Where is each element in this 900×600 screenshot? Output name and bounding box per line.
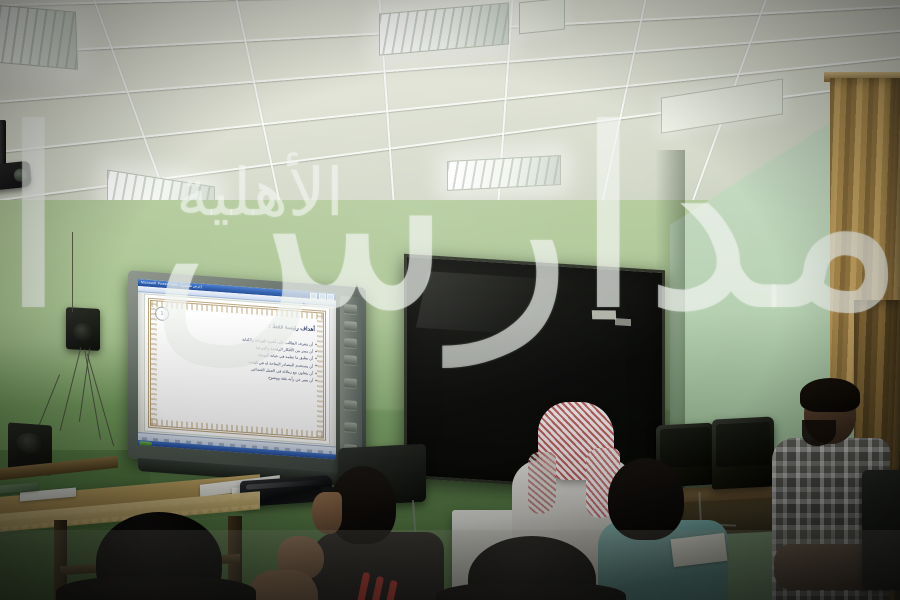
whiteboard-rail-button[interactable] bbox=[344, 304, 357, 314]
ceiling-projector bbox=[0, 128, 35, 190]
head bbox=[608, 458, 684, 540]
whiteboard-rail-button[interactable] bbox=[344, 355, 357, 365]
blackboard-glare bbox=[416, 271, 607, 338]
presentation-slide: 1 أهداف رئيسة فقط : أن يتعرف الطالب على … bbox=[144, 293, 330, 445]
classroom-photo: Microsoft PowerPoint - [عرض تقديمي] 1 أه… bbox=[0, 0, 900, 600]
fluorescent-panel-back bbox=[519, 0, 565, 34]
whiteboard-rail-button[interactable] bbox=[344, 422, 357, 432]
floor bbox=[0, 530, 900, 600]
whiteboard-rail-button[interactable] bbox=[344, 321, 357, 331]
whiteboard-rail-button[interactable] bbox=[344, 400, 357, 410]
projector-lens-icon bbox=[13, 168, 27, 182]
fluorescent-panel-right bbox=[447, 155, 561, 191]
whiteboard-button-rail[interactable] bbox=[340, 296, 362, 460]
blackboard-reflection bbox=[615, 318, 631, 326]
hair bbox=[800, 378, 860, 412]
slide-page-number: 1 bbox=[155, 306, 169, 321]
blackboard-reflection bbox=[592, 311, 616, 320]
ceiling-drop-cable bbox=[72, 232, 73, 312]
ghutra-tail-left bbox=[528, 452, 556, 514]
crt-monitor-right bbox=[712, 416, 774, 489]
interactive-whiteboard[interactable]: Microsoft PowerPoint - [عرض تقديمي] 1 أه… bbox=[128, 270, 366, 475]
fluorescent-panel-front-left bbox=[0, 0, 78, 70]
projected-screen[interactable]: Microsoft PowerPoint - [عرض تقديمي] 1 أه… bbox=[138, 279, 336, 460]
wall-speaker bbox=[66, 307, 100, 351]
face bbox=[312, 492, 342, 534]
whiteboard-rail-button[interactable] bbox=[344, 378, 357, 388]
whiteboard-rail-button[interactable] bbox=[344, 338, 357, 348]
